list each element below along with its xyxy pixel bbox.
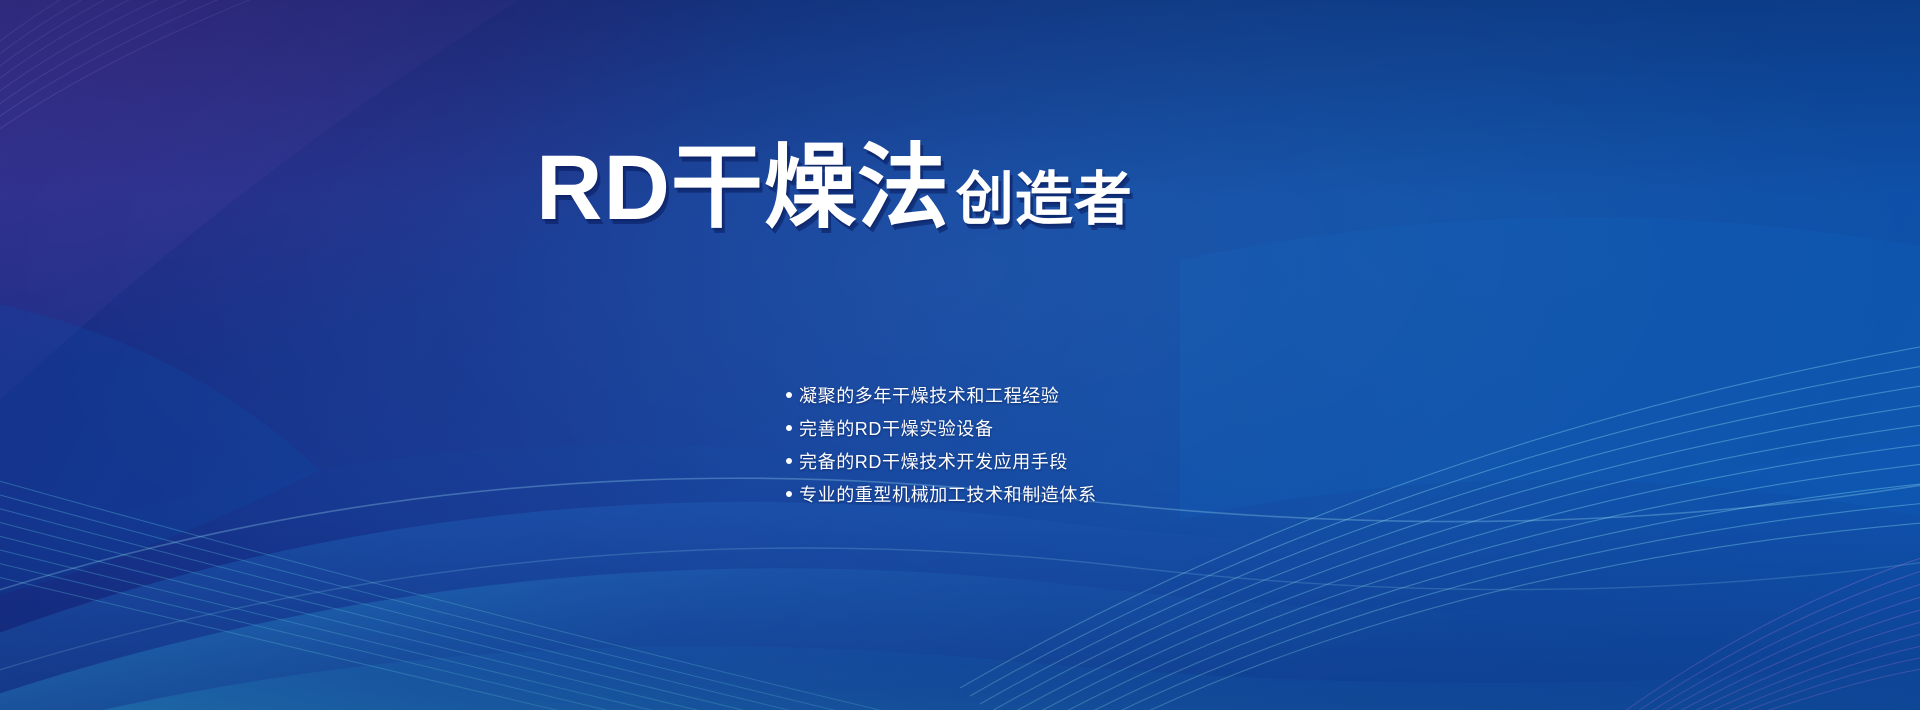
list-item: 凝聚的多年干燥技术和工程经验 [786, 378, 1097, 411]
bullet-dot-icon [786, 425, 792, 431]
list-item: 完备的RD干燥技术开发应用手段 [786, 444, 1097, 477]
headline-main-text: RD干燥法 [536, 137, 950, 239]
feature-bullet-list: 凝聚的多年干燥技术和工程经验 完善的RD干燥实验设备 完备的RD干燥技术开发应用… [786, 378, 1097, 510]
hero-banner: RD干燥法创造者 凝聚的多年干燥技术和工程经验 完善的RD干燥实验设备 完备的R… [0, 0, 1920, 710]
bullet-text: 专业的重型机械加工技术和制造体系 [799, 481, 1097, 507]
bullet-dot-icon [786, 458, 792, 464]
bullet-text: 凝聚的多年干燥技术和工程经验 [799, 382, 1059, 408]
bullet-dot-icon [786, 491, 792, 497]
headline-sub-text: 创造者 [956, 167, 1133, 232]
banner-content: RD干燥法创造者 凝聚的多年干燥技术和工程经验 完善的RD干燥实验设备 完备的R… [0, 0, 1920, 710]
bullet-text: 完善的RD干燥实验设备 [799, 415, 994, 441]
banner-headline: RD干燥法创造者 [536, 142, 1133, 234]
list-item: 完善的RD干燥实验设备 [786, 411, 1097, 444]
bullet-text: 完备的RD干燥技术开发应用手段 [799, 448, 1068, 474]
bullet-dot-icon [786, 392, 792, 398]
list-item: 专业的重型机械加工技术和制造体系 [786, 477, 1097, 510]
